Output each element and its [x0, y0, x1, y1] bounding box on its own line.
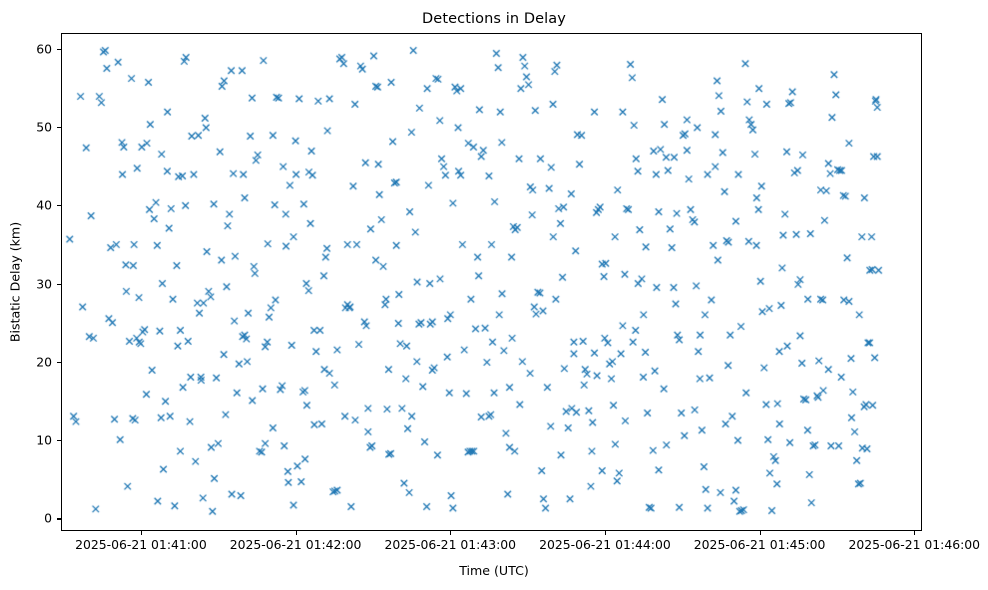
y-axis-tick-label: 60 — [36, 41, 52, 56]
x-axis-tick-label: 2025-06-21 01:44:00 — [539, 537, 671, 552]
x-axis-tick-mark — [141, 531, 142, 535]
y-axis-tick-mark — [57, 440, 61, 441]
y-axis-tick-mark — [57, 518, 61, 519]
y-axis-tick-label: 30 — [36, 276, 52, 291]
x-axis-tick-mark — [296, 531, 297, 535]
y-axis-tick-mark — [57, 205, 61, 206]
x-axis-tick-mark — [605, 531, 606, 535]
y-axis-tick-mark — [57, 49, 61, 50]
chart-figure: Detections in Delay 0102030405060 2025-0… — [0, 0, 988, 590]
y-axis-tick-mark — [57, 362, 61, 363]
y-axis-tick-label: 10 — [36, 433, 52, 448]
x-axis-tick-label: 2025-06-21 01:41:00 — [75, 537, 207, 552]
y-axis-tick-label: 20 — [36, 354, 52, 369]
y-axis-tick-label: 0 — [44, 511, 52, 526]
x-axis-tick-mark — [914, 531, 915, 535]
y-axis-tick-mark — [57, 284, 61, 285]
scatter-plot-canvas — [62, 34, 921, 530]
y-axis-tick-label: 40 — [36, 198, 52, 213]
x-axis-label: Time (UTC) — [0, 563, 988, 578]
y-axis-tick-label: 50 — [36, 119, 52, 134]
x-axis-tick-label: 2025-06-21 01:45:00 — [694, 537, 826, 552]
y-axis-tick-mark — [57, 127, 61, 128]
x-axis-tick-label: 2025-06-21 01:46:00 — [848, 537, 980, 552]
x-axis-tick-mark — [760, 531, 761, 535]
x-axis-tick-mark — [450, 531, 451, 535]
y-axis-label-text: Bistatic Delay (km) — [8, 222, 23, 342]
page-title: Detections in Delay — [0, 11, 988, 27]
x-axis-tick-label: 2025-06-21 01:42:00 — [230, 537, 362, 552]
plot-axes — [61, 33, 922, 531]
x-axis-tick-label: 2025-06-21 01:43:00 — [384, 537, 516, 552]
